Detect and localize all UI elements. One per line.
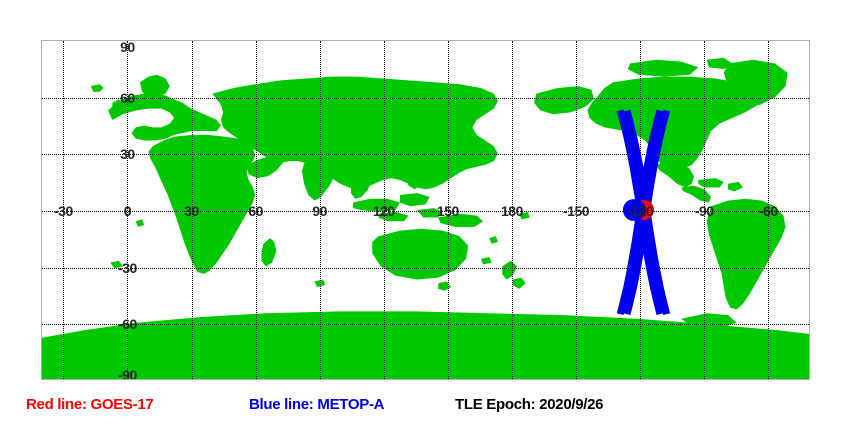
lon-tick-label: -30 — [54, 203, 73, 219]
lon-tick-label: -120 — [627, 203, 653, 219]
lon-tick-label: 90 — [312, 203, 327, 219]
lat-tick-label: -90 — [118, 367, 137, 380]
lon-tick-label: 60 — [248, 203, 263, 219]
lon-tick-label: -60 — [759, 203, 778, 219]
lon-tick-label: 30 — [184, 203, 199, 219]
lat-tick-label: 60 — [120, 90, 135, 106]
legend-bar: Red line: GOES-17 Blue line: METOP-A TLE… — [0, 396, 850, 420]
lon-tick-label: 150 — [437, 203, 459, 219]
lat-tick-label: 0 — [124, 203, 131, 219]
legend-tle-epoch: TLE Epoch: 2020/9/26 — [455, 396, 603, 413]
gridline-latitude — [42, 98, 809, 99]
gridline-latitude — [42, 154, 809, 155]
legend-goes17: Red line: GOES-17 — [26, 396, 153, 413]
gridline-latitude — [42, 324, 809, 325]
lon-tick-label: 180 — [501, 203, 523, 219]
world-map-plot: -300306090120150180-150-120-90-609060300… — [41, 40, 810, 380]
lon-tick-label: 120 — [373, 203, 395, 219]
lon-tick-label: -150 — [563, 203, 589, 219]
lat-tick-label: -30 — [118, 260, 137, 276]
lon-tick-label: -90 — [695, 203, 714, 219]
legend-metopa: Blue line: METOP-A — [249, 396, 384, 413]
lat-tick-label: 90 — [120, 40, 135, 55]
lat-tick-label: -60 — [118, 316, 137, 332]
gridline-latitude — [42, 268, 809, 269]
lat-tick-label: 30 — [120, 146, 135, 162]
